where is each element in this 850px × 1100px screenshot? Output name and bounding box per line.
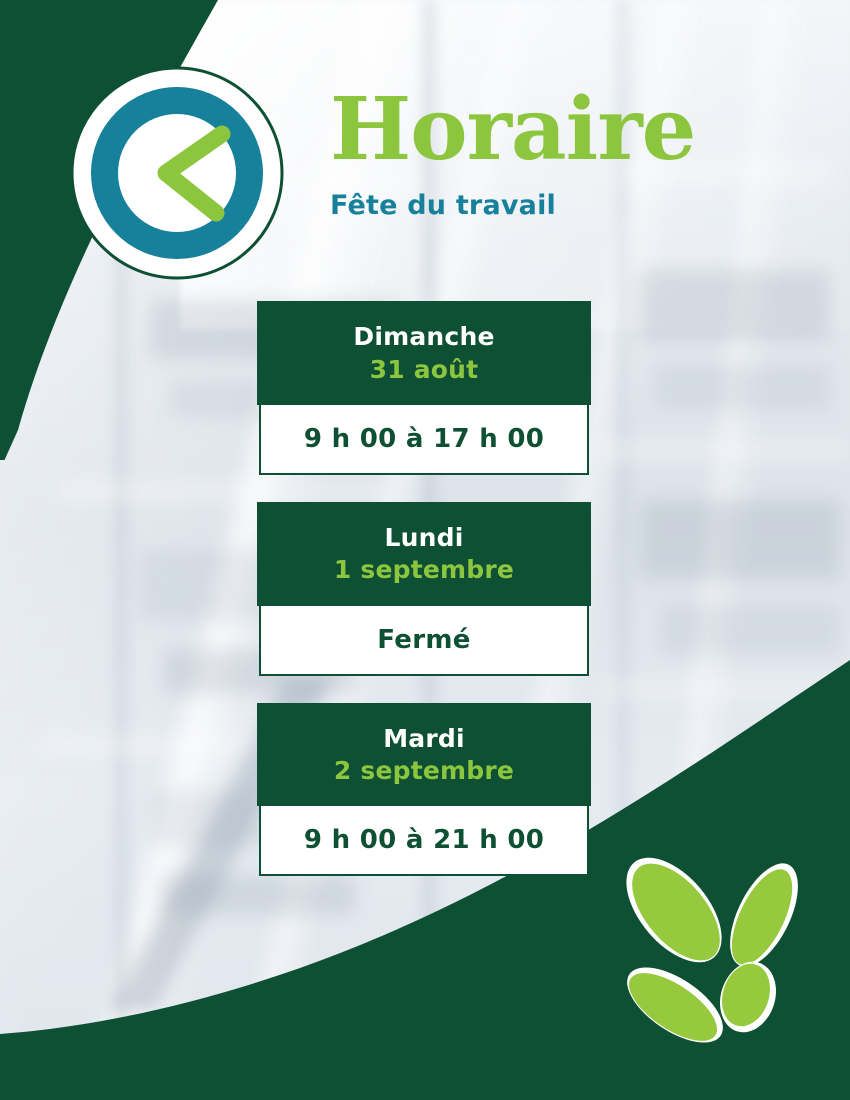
schedule-list: Dimanche 31 août 9 h 00 à 17 h 00 Lundi … — [257, 301, 591, 903]
schedule-hours: Fermé — [259, 606, 589, 676]
page-subtitle: Fête du travail — [330, 190, 800, 221]
page-title: Horaire — [330, 88, 800, 172]
schedule-hours: 9 h 00 à 21 h 00 — [259, 806, 589, 876]
schedule-date: 2 septembre — [267, 755, 581, 786]
schedule-date: 1 septembre — [267, 554, 581, 585]
schedule-poster: Horaire Fête du travail Dimanche 31 août… — [0, 0, 850, 1100]
poster-header: Horaire Fête du travail — [330, 88, 800, 221]
schedule-card-header: Lundi 1 septembre — [257, 502, 591, 606]
schedule-card: Dimanche 31 août 9 h 00 à 17 h 00 — [257, 301, 591, 475]
schedule-day: Lundi — [267, 523, 581, 553]
butterfly-icon — [612, 855, 827, 1060]
schedule-card-header: Dimanche 31 août — [257, 301, 591, 405]
schedule-date: 31 août — [267, 354, 581, 385]
clock-icon — [70, 66, 284, 280]
schedule-hours: 9 h 00 à 17 h 00 — [259, 405, 589, 475]
schedule-card: Lundi 1 septembre Fermé — [257, 502, 591, 676]
schedule-card: Mardi 2 septembre 9 h 00 à 21 h 00 — [257, 703, 591, 877]
schedule-day: Dimanche — [267, 322, 581, 352]
schedule-day: Mardi — [267, 724, 581, 754]
schedule-card-header: Mardi 2 septembre — [257, 703, 591, 807]
